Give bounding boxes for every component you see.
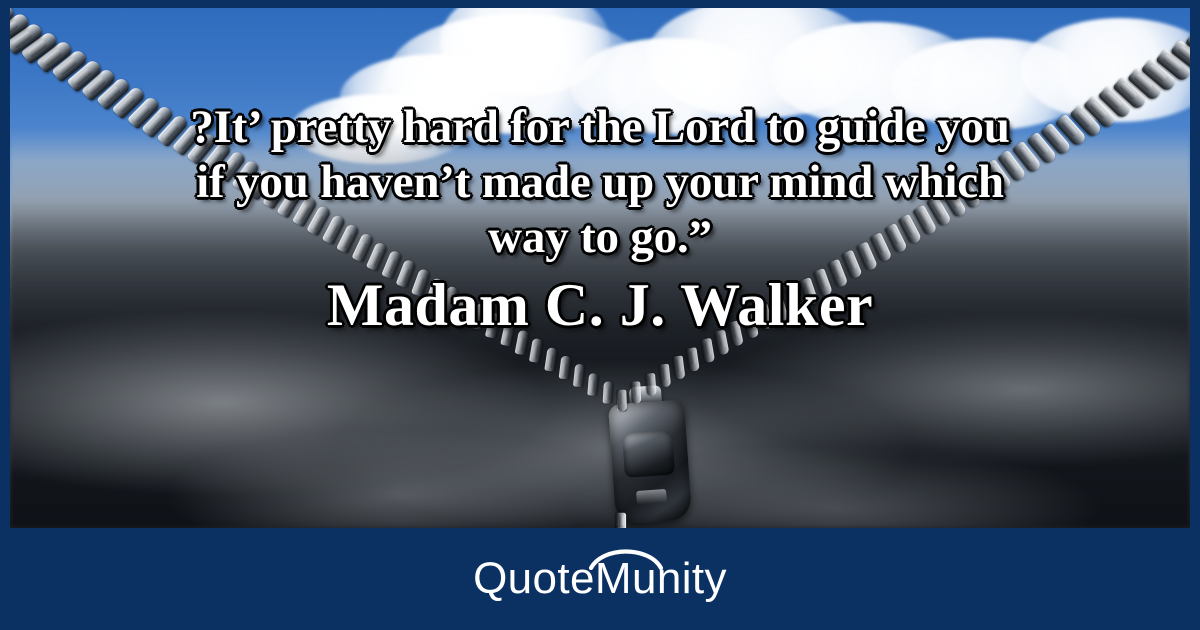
quote-line-2: if you haven’t made up your mind which xyxy=(0,159,1200,206)
zipper-tooth xyxy=(558,356,571,380)
zipper-tooth xyxy=(673,356,686,380)
zipper-tooth xyxy=(529,338,543,363)
zipper-tooth xyxy=(544,347,557,372)
footer-bar: QuoteMunity xyxy=(0,528,1200,630)
quote-block: ?It’ pretty hard for the Lord to guide y… xyxy=(0,104,1200,335)
quote-line-3: way to go.” xyxy=(0,214,1200,261)
zipper-tooth xyxy=(631,381,642,403)
zipper-tooth xyxy=(645,373,656,396)
zipper-tooth xyxy=(573,364,585,388)
quotemunity-logo[interactable]: QuoteMunity xyxy=(473,557,727,601)
quote-line-1: ?It’ pretty hard for the Lord to guide y… xyxy=(0,104,1200,151)
zipper-tooth xyxy=(659,364,671,388)
zipper-tooth xyxy=(701,338,715,363)
zipper-tooth xyxy=(687,347,700,372)
zipper-tooth xyxy=(616,513,626,528)
quote-card: ?It’ pretty hard for the Lord to guide y… xyxy=(0,0,1200,630)
logo-wordmark: QuoteMunity xyxy=(473,554,727,603)
zipper-slider-icon xyxy=(601,383,699,528)
quote-author: Madam C. J. Walker xyxy=(0,275,1200,335)
zipper-tooth xyxy=(602,381,613,403)
zipper-tooth xyxy=(588,373,599,396)
zipper-slider-body xyxy=(608,399,692,524)
zipper-tooth xyxy=(617,390,627,412)
